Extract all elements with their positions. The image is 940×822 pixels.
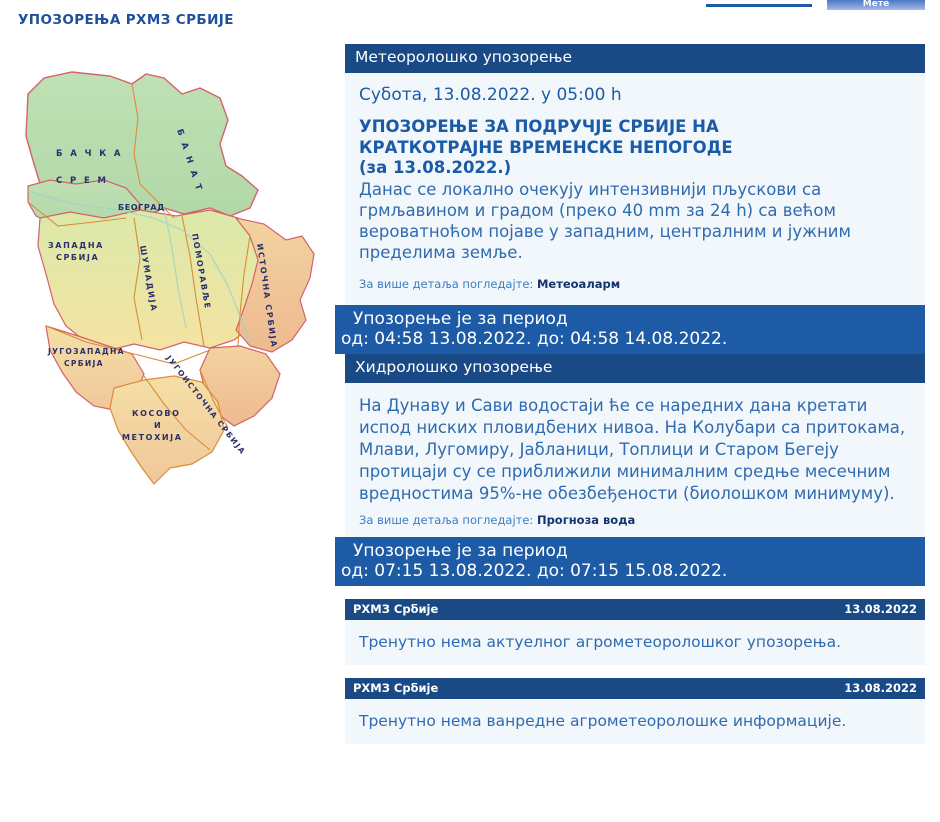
agro-info-header: РХМЗ Србије 13.08.2022 [345,678,925,699]
serbia-regions-map[interactable]: Б А Ч К А Б А Н А Т С Р Е М БЕОГРАД ЗАПА… [14,58,334,498]
hydro-more-details: За више детаља погледајте: Прогноза вода [359,509,911,535]
map-label-srem: С Р Е М [56,176,108,186]
agro-info-date: 13.08.2022 [844,681,917,695]
hydro-period-line2: од: 07:15 13.08.2022. до: 07:15 15.08.20… [335,561,925,581]
agro-info-source: РХМЗ Србије [353,681,438,695]
agro-warning-date: 13.08.2022 [844,602,917,616]
map-label-backa: Б А Ч К А [56,149,123,159]
agro-warning-source: РХМЗ Србије [353,602,438,616]
agro-info-text: Тренутно нема ванредне агрометеоролошке … [345,699,925,744]
svg-text:СРБИЈА: СРБИЈА [56,253,99,262]
map-svg: Б А Ч К А Б А Н А Т С Р Е М БЕОГРАД ЗАПА… [14,58,334,498]
meteo-title-line2: КРАТКОТРАЈНЕ ВРЕМЕНСКЕ НЕПОГОДЕ [359,136,911,157]
agro-warning-text: Тренутно нема актуелног агрометеоролошко… [345,620,925,665]
meteo-section-header: Метеоролошко упозорење [345,44,925,73]
section-gap-2 [345,665,925,678]
page-title: УПОЗОРЕЊА РХМЗ СРБИЈЕ [18,12,234,28]
map-label-kosovo-i-metohija: КОСОВО [132,409,181,418]
map-label-jugozapadna-srbija: ЈУГОЗАПАДНА [47,347,125,356]
meteo-period-banner: Упозорење је за период од: 04:58 13.08.2… [335,305,925,354]
map-label-beograd: БЕОГРАД [118,203,165,212]
meteo-more-prefix: За више детаља погледајте: [359,277,533,291]
hydro-section-body: На Дунаву и Сави водостаји ће се наредни… [345,383,925,537]
meteo-period-line1: Упозорење је за период [335,309,925,329]
warnings-panel: Метеоролошко упозорење Субота, 13.08.202… [345,44,925,744]
meteo-title-line1: УПОЗОРЕЊЕ ЗА ПОДРУЧЈЕ СРБИЈЕ НА [359,115,911,136]
prognoza-voda-link[interactable]: Прогноза вода [537,513,635,527]
hydro-more-prefix: За више детаља погледајте: [359,513,533,527]
meteo-period-line2: од: 04:58 13.08.2022. до: 04:58 14.08.20… [335,329,925,349]
map-label-zapadna-srbija: ЗАПАДНА [48,241,104,250]
section-gap [345,586,925,599]
region-shape-kosovo [110,376,224,484]
hydro-period-banner: Упозорење је за период од: 07:15 13.08.2… [335,537,925,586]
svg-text:И: И [154,421,162,430]
meteoalarm-link[interactable]: Метеоаларм [537,277,620,291]
svg-text:МЕТОХИЈА: МЕТОХИЈА [122,433,183,442]
meteo-body-text: Данас се локално очекују интензивнији пљ… [359,178,911,263]
meteo-title-line3: (за 13.08.2022.) [359,158,911,178]
svg-text:СРБИЈА: СРБИЈА [64,359,104,368]
hydro-section-header: Хидролошко упозорење [345,354,925,383]
cutoff-button-label: Мете [827,0,925,9]
cutoff-button-fragment[interactable]: Мете [827,0,925,10]
agro-warning-header: РХМЗ Србије 13.08.2022 [345,599,925,620]
meteo-section-body: Субота, 13.08.2022. у 05:00 h УПОЗОРЕЊЕ … [345,73,925,305]
meteo-datetime: Субота, 13.08.2022. у 05:00 h [359,73,911,115]
horizontal-divider [706,4,812,7]
hydro-period-line1: Упозорење је за период [335,541,925,561]
meteo-more-details: За више детаља погледајте: Метеоаларм [359,263,911,303]
hydro-body-text: На Дунаву и Сави водостаји ће се наредни… [359,383,911,509]
